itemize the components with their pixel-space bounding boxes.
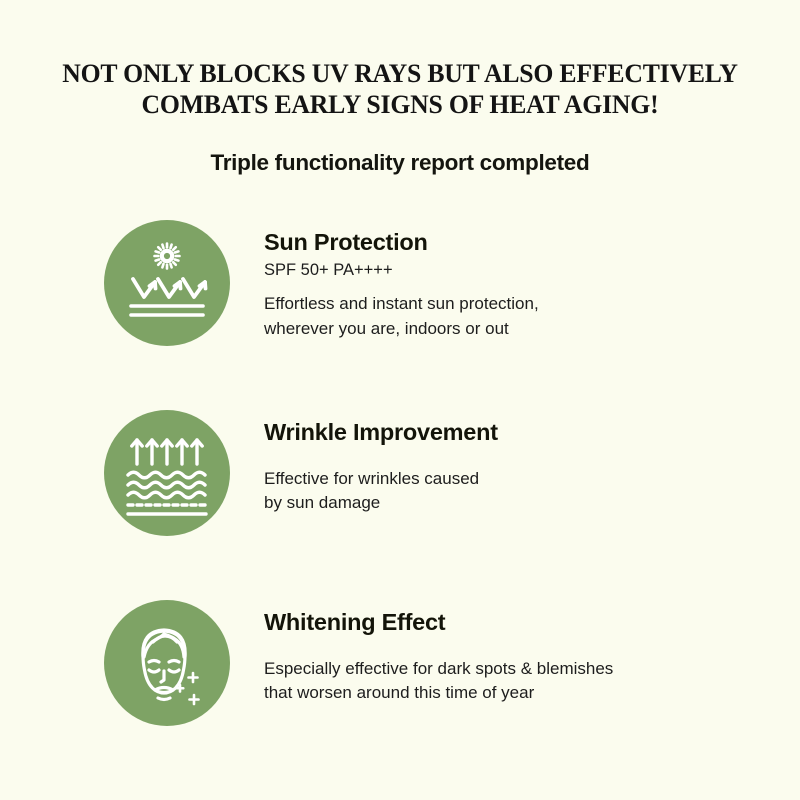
feature-description-line-1: Effortless and instant sun protection, (264, 292, 539, 316)
list-item: Sun Protection SPF 50+ PA++++ Effortless… (0, 208, 800, 398)
list-item: Wrinkle Improvement Effective for wrinkl… (0, 398, 800, 588)
feature-text-block: Sun Protection SPF 50+ PA++++ Effortless… (264, 208, 539, 341)
wrinkle-improvement-icon (104, 410, 230, 536)
feature-title: Wrinkle Improvement (264, 420, 498, 446)
feature-description-line-2: that worsen around this time of year (264, 681, 613, 705)
feature-text-block: Wrinkle Improvement Effective for wrinkl… (264, 398, 498, 515)
headline-line-1: NOT ONLY BLOCKS UV RAYS BUT ALSO EFFECTI… (12, 58, 788, 89)
feature-title: Whitening Effect (264, 610, 613, 636)
whitening-effect-icon (104, 600, 230, 726)
promo-infographic-page: NOT ONLY BLOCKS UV RAYS BUT ALSO EFFECTI… (0, 0, 800, 800)
sun-protection-icon (104, 220, 230, 346)
feature-text-block: Whitening Effect Especially effective fo… (264, 588, 613, 705)
feature-list: Sun Protection SPF 50+ PA++++ Effortless… (0, 208, 800, 778)
feature-description: Effective for wrinkles caused by sun dam… (264, 467, 498, 515)
feature-description-line-2: by sun damage (264, 491, 498, 515)
feature-subtitle: SPF 50+ PA++++ (264, 260, 539, 281)
page-subtitle: Triple functionality report completed (0, 150, 800, 176)
list-item: Whitening Effect Especially effective fo… (0, 588, 800, 778)
feature-description: Especially effective for dark spots & bl… (264, 657, 613, 705)
feature-description-line-1: Especially effective for dark spots & bl… (264, 657, 613, 681)
feature-description: Effortless and instant sun protection, w… (264, 292, 539, 340)
headline-line-2: COMBATS EARLY SIGNS OF HEAT AGING! (12, 89, 788, 120)
feature-description-line-1: Effective for wrinkles caused (264, 467, 498, 491)
feature-title: Sun Protection (264, 230, 539, 256)
page-title: NOT ONLY BLOCKS UV RAYS BUT ALSO EFFECTI… (12, 58, 788, 120)
feature-description-line-2: wherever you are, indoors or out (264, 317, 539, 341)
